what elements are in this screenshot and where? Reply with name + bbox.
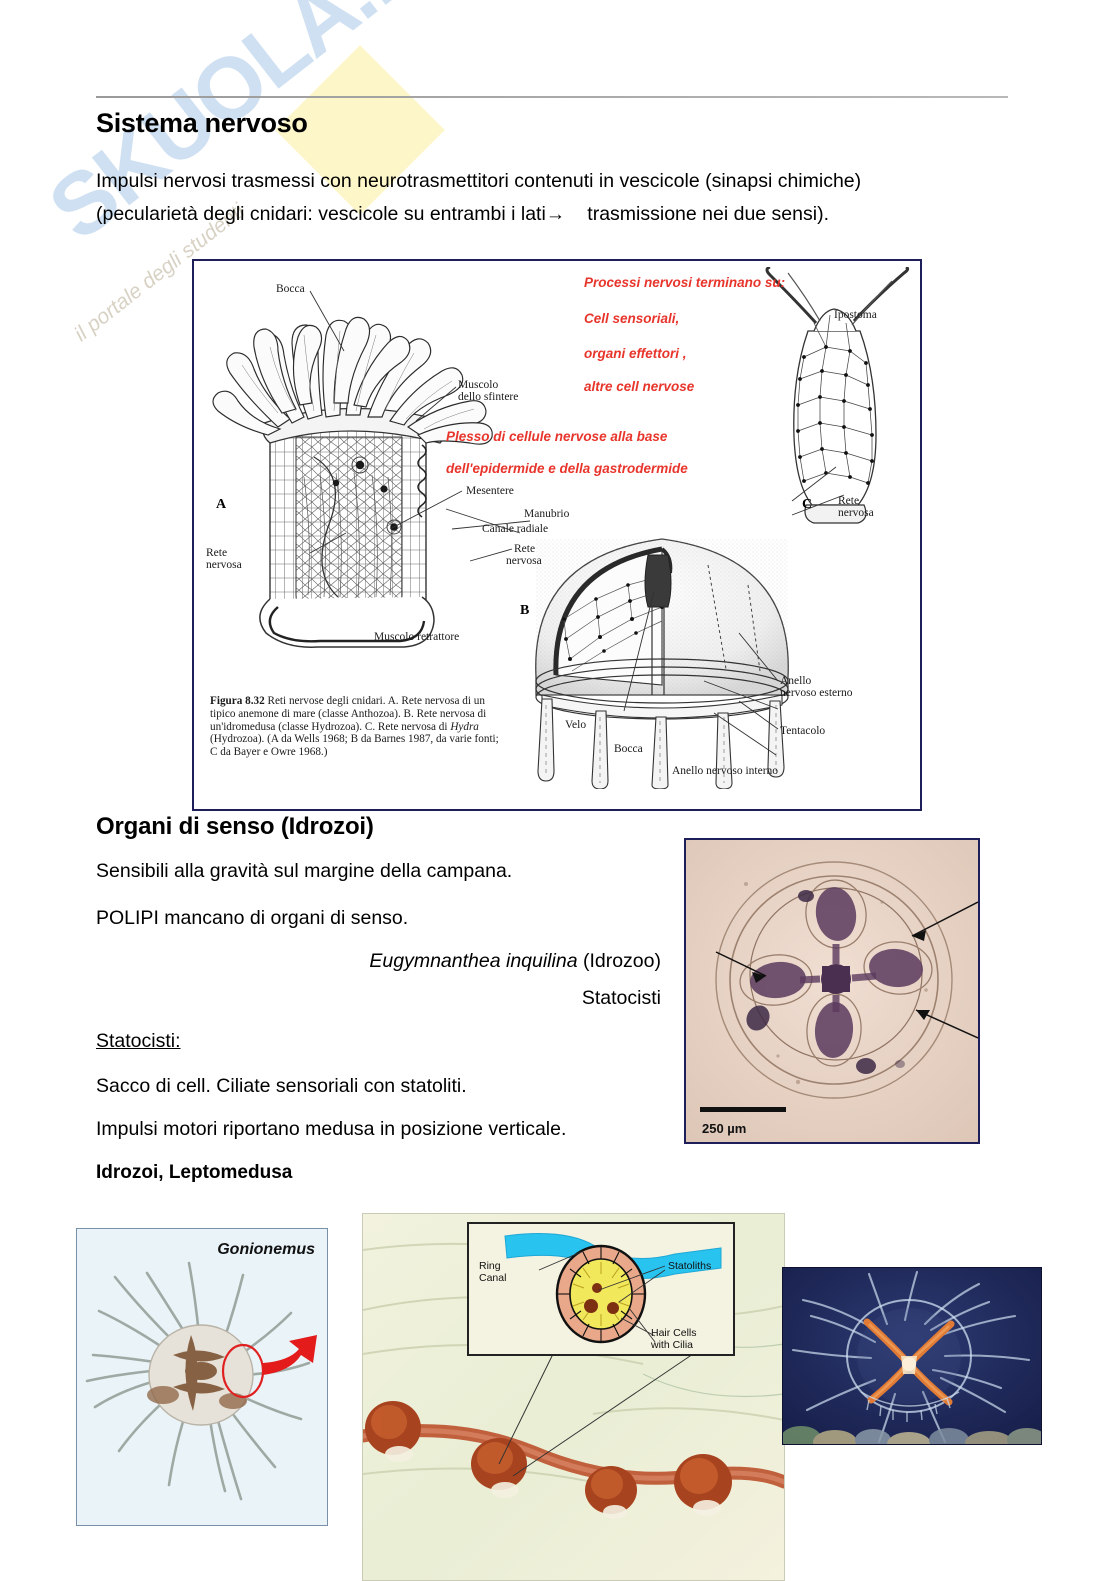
label-ring-canal-2: Canal [479,1272,506,1284]
label-manubrio: Manubrio [524,508,569,521]
text-statocisti-right: Statocisti [96,987,661,1010]
page-title: Sistema nervoso [96,108,308,139]
document-page: Sistema nervoso Impulsi nervosi trasmess… [0,0,1116,1579]
photo-gonionemus: Gonionemus [76,1228,328,1526]
label-canale-radiale: Canale radiale [482,523,548,536]
section-heading-organi-di-senso: Organi di senso (Idrozoi) [96,813,374,841]
red-note-6: dell'epidermide e della gastrodermide [446,461,688,476]
intro-line-1: Impulsi nervosi trasmessi con neurotrasm… [96,170,861,192]
figure-8-32: Bocca Muscolo dello sfintere Mesentere R… [192,259,922,811]
hydra-nerve-net-illustration [754,267,914,537]
label-anello-interno: Anello nervoso interno [672,765,778,778]
label-ipostoma: Ipostoma [834,309,877,322]
gonionemus-artwork [77,1229,327,1525]
label-hair-cells-2: with Cilia [651,1339,693,1351]
label-muscolo-retrattore: Muscolo retrattore [374,631,459,644]
scale-bar-label: 250 µm [702,1121,746,1136]
label-mesentere: Mesentere [466,485,514,498]
text-sacco-di-cell: Sacco di cell. Ciliate sensoriali con st… [96,1075,467,1098]
micrograph-artwork [686,840,978,1142]
red-note-3: organi effettori , [584,346,687,361]
gonionemus-label: Gonionemus [217,1241,315,1259]
red-note-4: altre cell nervose [584,379,694,394]
live-medusa-artwork [783,1268,1041,1444]
figure-caption: Figura 8.32 Reti nervose degli cnidari. … [210,695,506,759]
red-note-2: Cell sensoriali, [584,311,679,326]
species-suffix: (Idrozoo) [578,950,661,972]
anemone-nerve-net-illustration [208,277,518,677]
text-statocisti-heading: Statocisti: [96,1030,181,1053]
statocyst-diagram-inset: Ring Canal Statoliths Hair Cells with Ci… [467,1222,735,1356]
text-polipi-mancano: POLIPI mancano di organi di senso. [96,907,408,930]
label-ring-canal-1: Ring [479,1260,501,1272]
label-muscolo-sfintere-2: dello sfintere [458,391,518,404]
label-rete-nervosa-c-2: nervosa [838,507,874,520]
red-note-5: Plesso di cellule nervose alla base [446,429,667,444]
text-sensibili-gravita: Sensibili alla gravità sul margine della… [96,860,512,883]
label-hair-cells-1: Hair Cells [651,1327,697,1339]
species-italic: Eugymnanthea inquilina [369,950,577,972]
figure-caption-italic: Hydra [450,721,479,733]
photo-live-medusa [782,1267,1042,1445]
intro-line-2a: (pecularietà degli cnidari: vescicole su… [96,203,546,225]
label-rete-nervosa-b-2: nervosa [506,555,542,568]
label-velo: Velo [565,719,586,732]
text-idrozoi-leptomedusa: Idrozoi, Leptomedusa [96,1162,292,1184]
arrow-glyph: → [546,203,566,225]
label-tentacolo: Tentacolo [780,725,825,738]
intro-line-2b: trasmissione nei due sensi). [587,203,829,225]
text-impulsi-motori: Impulsi motori riportano medusa in posiz… [96,1118,566,1141]
label-rete-nervosa-a-2: nervosa [206,559,242,572]
label-anello-esterno-2: nervoso esterno [780,687,853,700]
hydromedusa-nerve-net-illustration [512,499,812,789]
red-note-1: Processi nervosi terminano su: [584,275,785,290]
panel-letter-a: A [216,497,226,513]
scale-bar [700,1107,786,1112]
label-bocca-b: Bocca [614,743,643,756]
header-divider [96,96,1008,98]
figure-caption-number: Figura 8.32 [210,695,265,707]
text-species-name: Eugymnanthea inquilina (Idrozoo) [96,950,661,973]
figure-caption-text-2: (Hydrozoa). (A da Wells 1968; B da Barne… [210,733,499,758]
panel-letter-b: B [520,603,529,619]
photo-stolon-with-statocyst-inset: Ring Canal Statoliths Hair Cells with Ci… [362,1213,785,1581]
panel-letter-c: C [802,497,812,513]
label-bocca-top: Bocca [276,283,305,296]
intro-paragraph: Impulsi nervosi trasmessi con neurotrasm… [96,165,1016,231]
micrograph-statocyst-medusa: 250 µm [684,838,980,1144]
label-statoliths: Statoliths [668,1260,711,1272]
